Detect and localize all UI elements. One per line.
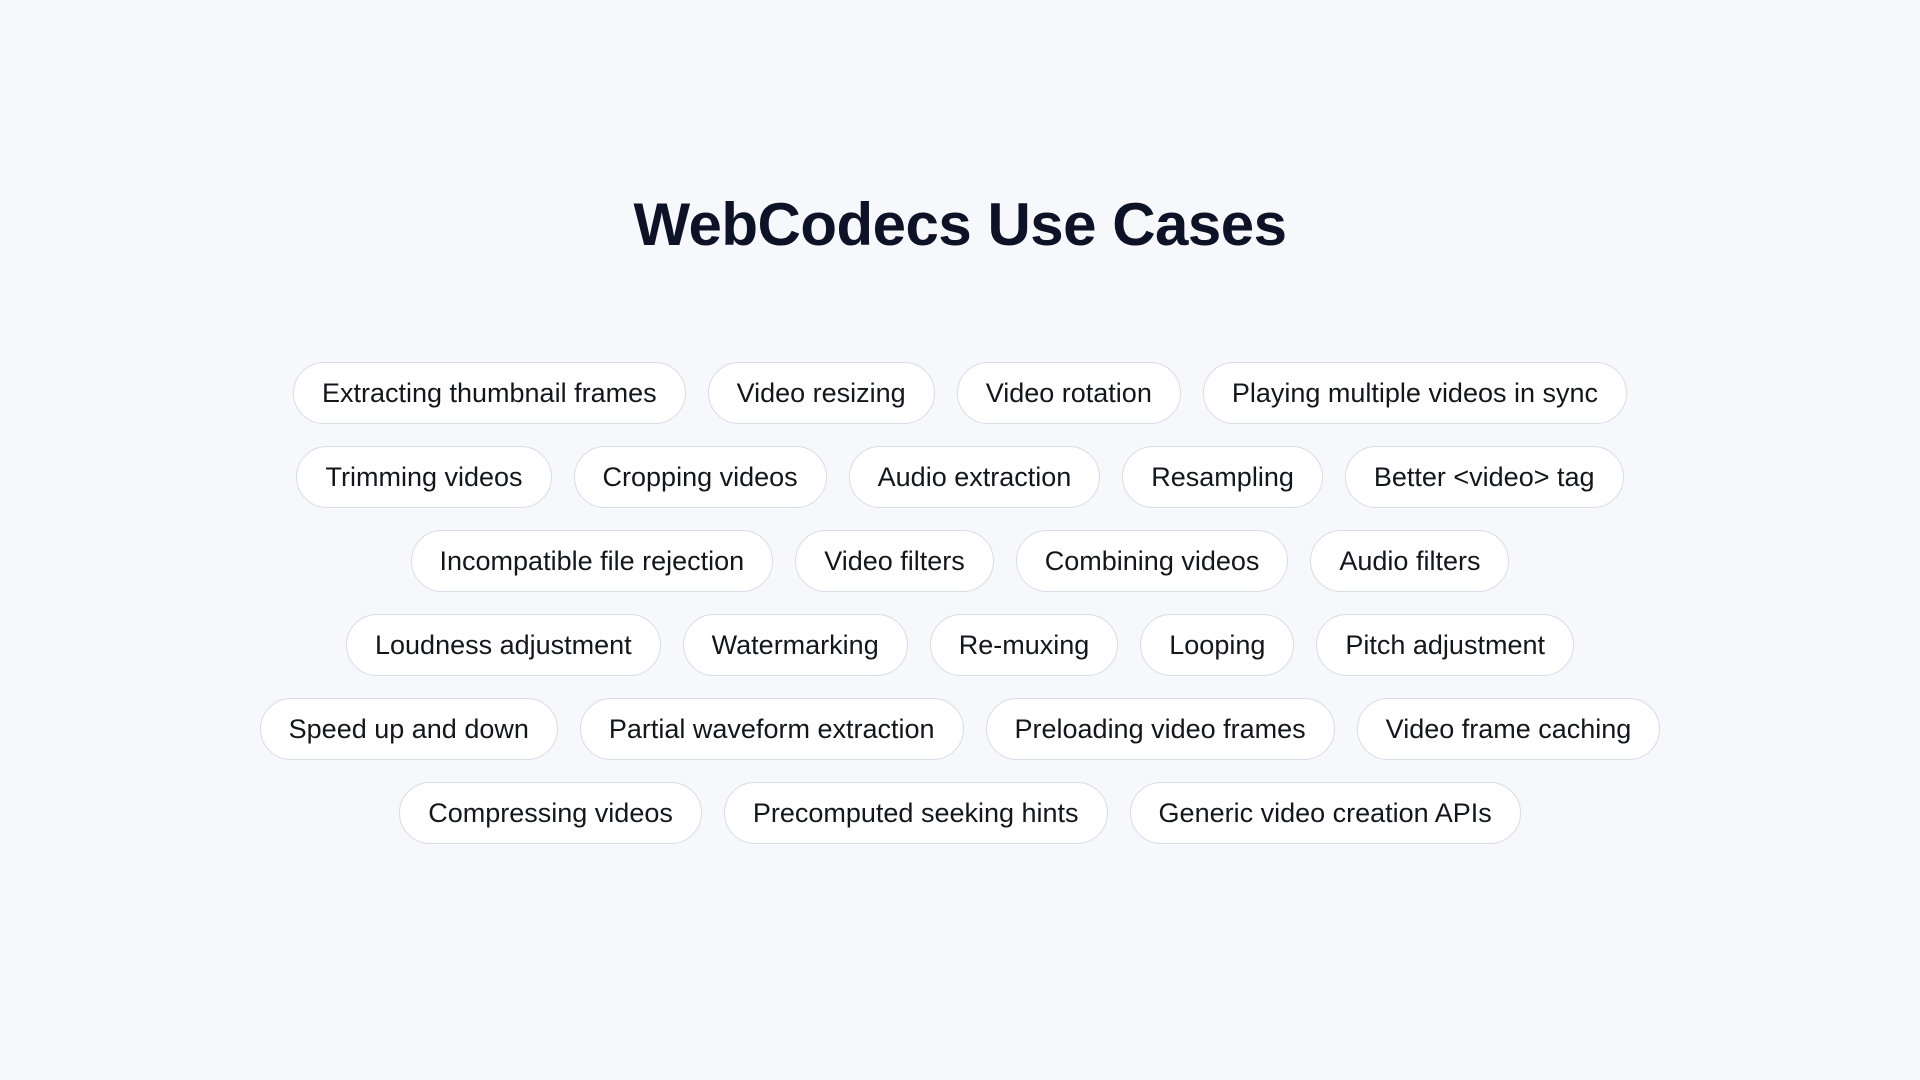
pill-row: Extracting thumbnail frames Video resizi… — [130, 362, 1790, 424]
use-case-pill[interactable]: Looping — [1140, 614, 1294, 676]
use-case-pill[interactable]: Audio extraction — [849, 446, 1101, 508]
use-case-pill[interactable]: Video resizing — [708, 362, 935, 424]
pill-row: Loudness adjustment Watermarking Re-muxi… — [130, 614, 1790, 676]
use-case-pill[interactable]: Resampling — [1122, 446, 1323, 508]
use-case-pill[interactable]: Watermarking — [683, 614, 908, 676]
use-case-pill[interactable]: Playing multiple videos in sync — [1203, 362, 1627, 424]
use-case-pill[interactable]: Precomputed seeking hints — [724, 782, 1108, 844]
page-title: WebCodecs Use Cases — [633, 192, 1286, 258]
use-case-pill[interactable]: Speed up and down — [260, 698, 558, 760]
use-case-pill[interactable]: Pitch adjustment — [1316, 614, 1574, 676]
pill-row: Speed up and down Partial waveform extra… — [130, 698, 1790, 760]
pill-row: Trimming videos Cropping videos Audio ex… — [130, 446, 1790, 508]
use-case-pill[interactable]: Video rotation — [957, 362, 1181, 424]
use-case-pill[interactable]: Partial waveform extraction — [580, 698, 964, 760]
use-case-pill[interactable]: Extracting thumbnail frames — [293, 362, 686, 424]
use-case-pill[interactable]: Compressing videos — [399, 782, 702, 844]
pill-row: Compressing videos Precomputed seeking h… — [130, 782, 1790, 844]
page-root: WebCodecs Use Cases Extracting thumbnail… — [0, 0, 1920, 1080]
use-case-pill-cloud: Extracting thumbnail frames Video resizi… — [130, 362, 1790, 844]
pill-row: Incompatible file rejection Video filter… — [130, 530, 1790, 592]
use-case-pill[interactable]: Preloading video frames — [986, 698, 1335, 760]
use-case-pill[interactable]: Re-muxing — [930, 614, 1119, 676]
use-case-pill[interactable]: Video frame caching — [1357, 698, 1661, 760]
use-case-pill[interactable]: Generic video creation APIs — [1130, 782, 1521, 844]
use-case-pill[interactable]: Cropping videos — [574, 446, 827, 508]
use-case-pill[interactable]: Video filters — [795, 530, 994, 592]
use-case-pill[interactable]: Audio filters — [1310, 530, 1509, 592]
use-case-pill[interactable]: Incompatible file rejection — [411, 530, 774, 592]
use-case-pill[interactable]: Better <video> tag — [1345, 446, 1624, 508]
use-case-pill[interactable]: Combining videos — [1016, 530, 1289, 592]
use-case-pill[interactable]: Loudness adjustment — [346, 614, 661, 676]
use-case-pill[interactable]: Trimming videos — [296, 446, 551, 508]
